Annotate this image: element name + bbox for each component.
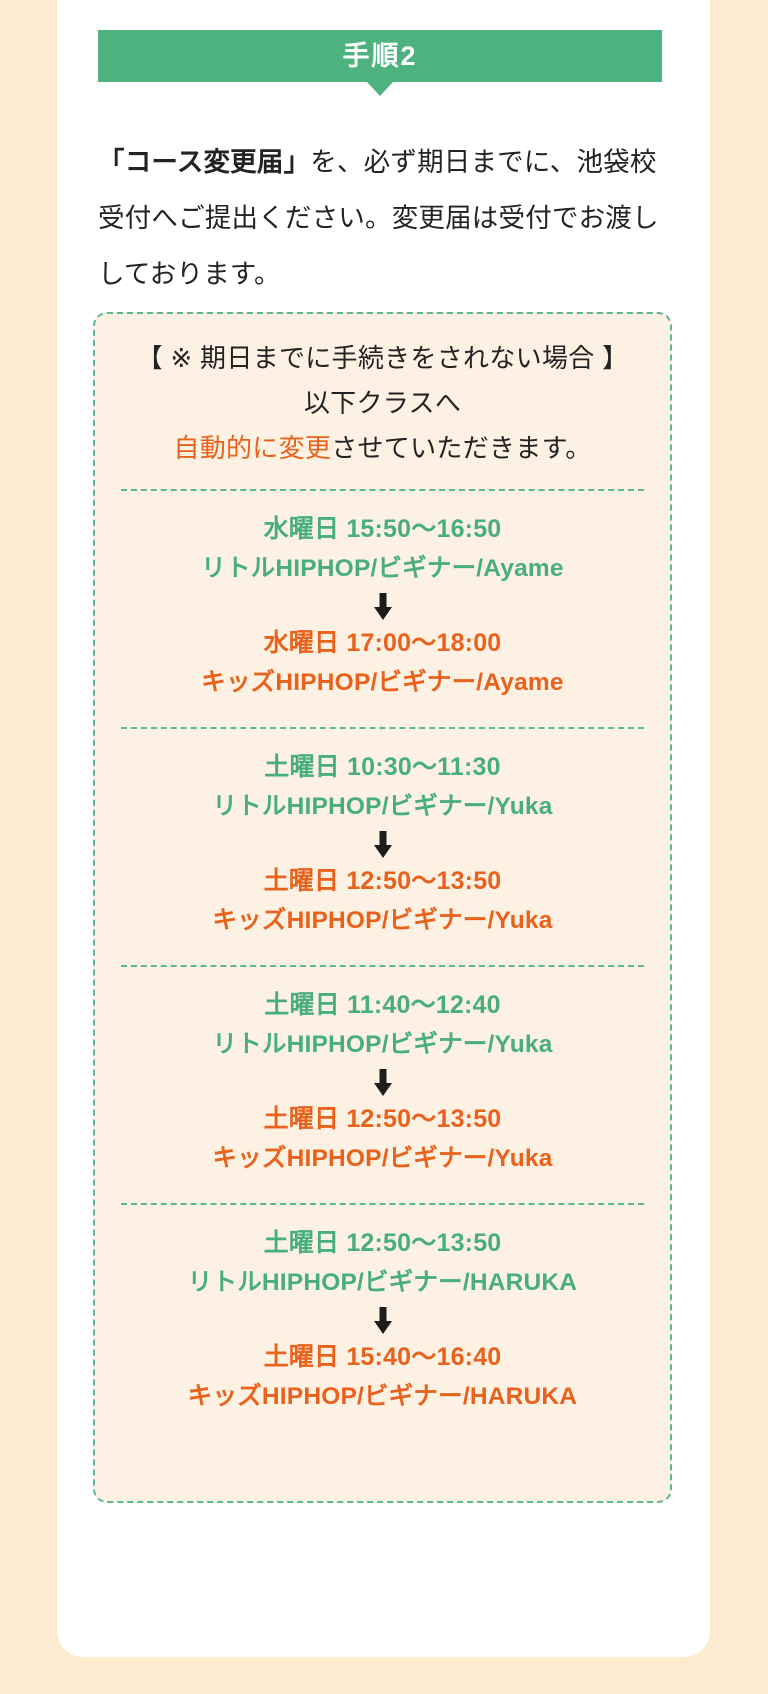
step-banner: 手順2 bbox=[98, 30, 662, 82]
notice-heading-line-3-rest: させていただきます。 bbox=[331, 433, 591, 463]
class-change-block: 土曜日 10:30〜11:30 リトルHIPHOP/ビギナー/Yuka 土曜日 … bbox=[111, 743, 654, 947]
class-change-to: 水曜日 17:00〜18:00 キッズHIPHOP/ビギナー/Ayame bbox=[111, 623, 654, 703]
down-arrow-icon bbox=[371, 593, 395, 621]
divider bbox=[121, 489, 644, 491]
from-time: 土曜日 12:50〜13:50 bbox=[111, 1223, 654, 1263]
notice-heading-line-3: 自動的に変更させていただきます。 bbox=[111, 426, 654, 471]
from-time: 水曜日 15:50〜16:50 bbox=[111, 509, 654, 549]
class-change-to: 土曜日 15:40〜16:40 キッズHIPHOP/ビギナー/HARUKA bbox=[111, 1337, 654, 1417]
divider bbox=[121, 1203, 644, 1205]
auto-change-notice-box: 【 ※ 期日までに手続きをされない場合 】 以下クラスへ 自動的に変更させていた… bbox=[93, 312, 672, 1503]
notice-heading-line-1: 【 ※ 期日までに手続きをされない場合 】 bbox=[111, 336, 654, 381]
down-arrow-icon bbox=[371, 1069, 395, 1097]
notice-heading-highlight: 自動的に変更 bbox=[173, 433, 331, 463]
content-card: 手順2 「コース変更届」を、必ず期日までに、池袋校受付へご提出ください。変更届は… bbox=[57, 0, 710, 1657]
to-time: 水曜日 17:00〜18:00 bbox=[111, 623, 654, 663]
intro-paragraph: 「コース変更届」を、必ず期日までに、池袋校受付へご提出ください。変更届は受付でお… bbox=[98, 134, 668, 302]
divider bbox=[121, 727, 644, 729]
down-arrow-icon bbox=[371, 1307, 395, 1335]
class-change-block: 土曜日 12:50〜13:50 リトルHIPHOP/ビギナー/HARUKA 土曜… bbox=[111, 1219, 654, 1423]
divider bbox=[121, 965, 644, 967]
down-arrow-icon bbox=[371, 831, 395, 859]
to-time: 土曜日 12:50〜13:50 bbox=[111, 1099, 654, 1139]
from-time: 土曜日 10:30〜11:30 bbox=[111, 747, 654, 787]
to-class: キッズHIPHOP/ビギナー/HARUKA bbox=[111, 1377, 654, 1417]
from-time: 土曜日 11:40〜12:40 bbox=[111, 985, 654, 1025]
step-banner-bar: 手順2 bbox=[98, 30, 662, 82]
to-time: 土曜日 12:50〜13:50 bbox=[111, 861, 654, 901]
banner-tail-triangle-icon bbox=[367, 82, 393, 96]
class-change-to: 土曜日 12:50〜13:50 キッズHIPHOP/ビギナー/Yuka bbox=[111, 861, 654, 941]
notice-heading: 【 ※ 期日までに手続きをされない場合 】 以下クラスへ 自動的に変更させていた… bbox=[111, 336, 654, 471]
from-class: リトルHIPHOP/ビギナー/HARUKA bbox=[111, 1263, 654, 1303]
class-change-block: 土曜日 11:40〜12:40 リトルHIPHOP/ビギナー/Yuka 土曜日 … bbox=[111, 981, 654, 1185]
to-class: キッズHIPHOP/ビギナー/Yuka bbox=[111, 1139, 654, 1179]
to-time: 土曜日 15:40〜16:40 bbox=[111, 1337, 654, 1377]
class-change-block: 水曜日 15:50〜16:50 リトルHIPHOP/ビギナー/Ayame 水曜日… bbox=[111, 505, 654, 709]
class-change-from: 土曜日 12:50〜13:50 リトルHIPHOP/ビギナー/HARUKA bbox=[111, 1223, 654, 1303]
to-class: キッズHIPHOP/ビギナー/Ayame bbox=[111, 663, 654, 703]
from-class: リトルHIPHOP/ビギナー/Ayame bbox=[111, 549, 654, 589]
from-class: リトルHIPHOP/ビギナー/Yuka bbox=[111, 1025, 654, 1065]
step-banner-label: 手順2 bbox=[342, 43, 417, 70]
to-class: キッズHIPHOP/ビギナー/Yuka bbox=[111, 901, 654, 941]
class-change-from: 土曜日 11:40〜12:40 リトルHIPHOP/ビギナー/Yuka bbox=[111, 985, 654, 1065]
notice-heading-line-2: 以下クラスへ bbox=[111, 381, 654, 426]
class-change-from: 土曜日 10:30〜11:30 リトルHIPHOP/ビギナー/Yuka bbox=[111, 747, 654, 827]
intro-emphasis: 「コース変更届」 bbox=[98, 147, 310, 177]
from-class: リトルHIPHOP/ビギナー/Yuka bbox=[111, 787, 654, 827]
class-change-to: 土曜日 12:50〜13:50 キッズHIPHOP/ビギナー/Yuka bbox=[111, 1099, 654, 1179]
class-change-from: 水曜日 15:50〜16:50 リトルHIPHOP/ビギナー/Ayame bbox=[111, 509, 654, 589]
